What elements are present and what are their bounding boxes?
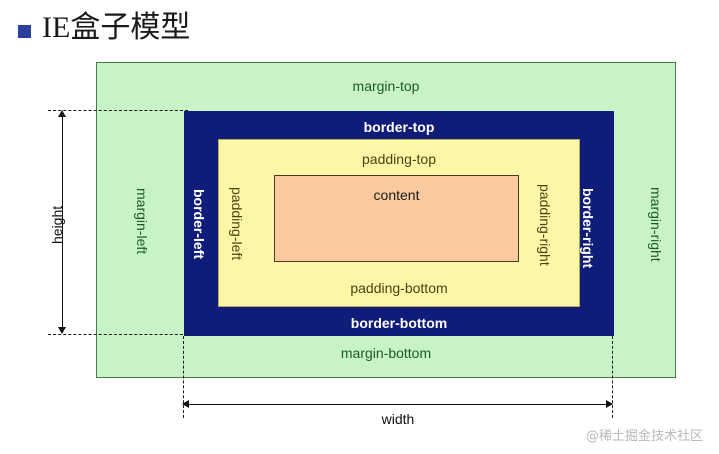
height-guide-bottom-dashed: [48, 334, 188, 335]
width-arrow-head-right: [606, 400, 613, 408]
margin-right-label: margin-right: [649, 187, 663, 262]
height-label: height: [50, 206, 64, 244]
border-left-label: border-left: [192, 189, 206, 259]
padding-top-label: padding-top: [362, 152, 436, 166]
page-title: IE盒子模型: [42, 2, 190, 46]
width-arrow-line: [185, 404, 611, 405]
height-guide-top-dashed: [48, 110, 188, 111]
width-arrow-head-left: [182, 400, 189, 408]
padding-bottom-label: padding-bottom: [350, 281, 447, 295]
padding-left-label: padding-left: [230, 187, 244, 260]
border-box: border-top border-bottom border-left bor…: [184, 111, 614, 336]
slide-title-bar: IE盒子模型: [0, 0, 719, 56]
width-label: width: [382, 412, 415, 426]
border-right-label: border-right: [581, 188, 595, 268]
margin-left-label: margin-left: [135, 188, 149, 254]
content-label: content: [374, 188, 420, 202]
padding-box: padding-top padding-bottom padding-left …: [218, 139, 580, 307]
border-bottom-label: border-bottom: [351, 316, 447, 330]
watermark: @稀土掘金技术社区: [586, 425, 703, 444]
content-box: content: [274, 175, 519, 262]
margin-bottom-label: margin-bottom: [341, 346, 431, 360]
bullet-square-icon: [18, 25, 31, 38]
padding-right-label: padding-right: [538, 184, 552, 266]
margin-top-label: margin-top: [353, 79, 420, 93]
height-arrow-head-top: [58, 110, 66, 117]
border-top-label: border-top: [364, 120, 435, 134]
height-arrow-head-bottom: [58, 327, 66, 334]
